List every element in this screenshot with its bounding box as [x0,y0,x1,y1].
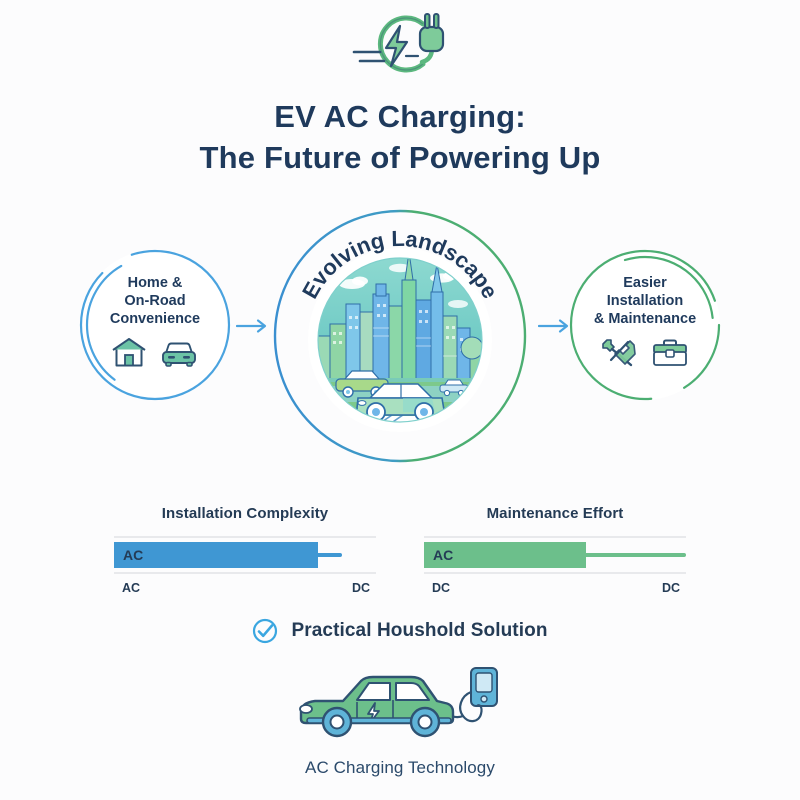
metric-maintenance-effort: Maintenance Effort AC DC DC [416,505,694,595]
chart-bar-0[interactable]: AC [114,542,318,568]
metric-title-1: Maintenance Effort [416,505,694,522]
metric-installation-complexity: Installation Complexity AC AC DC [106,505,384,595]
right-label-line-2: Installation [594,292,696,310]
flow-node-right-icons [601,336,689,368]
flow-node-easier-installation[interactable]: Easier Installation & Maintenance [570,250,720,400]
metric-chart-0: AC [106,536,384,574]
left-label-line-3: Convenience [110,310,200,328]
chart-axis-1: DC DC [416,574,694,595]
evolving-landscape-graphic: Evolving Landscape [272,208,528,464]
footer-section: AC Charging Technology [0,662,800,778]
arrow-right-icon-1 [236,318,270,334]
right-label-line-1: Easier [594,274,696,292]
header-logo [0,4,800,84]
ev-plug-bolt-icon [346,4,454,84]
wrench-screwdriver-icon [601,336,639,368]
metrics-section: Installation Complexity AC AC DC Mainten… [0,505,800,595]
callout-text: Practical Houshold Solution [291,620,547,642]
right-label-line-3: & Maintenance [594,310,696,328]
chart-bar-label-1: AC [424,547,453,563]
flow-node-left-icons [111,336,199,368]
title-line-2: The Future of Powering Up [0,137,800,178]
axis-tick-right-1: DC [662,581,680,595]
left-label-line-1: Home & [110,274,200,292]
chart-bar-label-0: AC [114,547,143,563]
axis-tick-left-1: DC [432,581,450,595]
infographic-canvas: EV AC Charging: The Future of Powering U… [0,0,800,800]
flow-node-evolving-landscape[interactable]: Evolving Landscape [272,208,528,464]
metric-title-0: Installation Complexity [106,505,384,522]
ev-car-charging-illustration [285,662,515,752]
car-front-icon [159,340,199,368]
chart-bar-1[interactable]: AC [424,542,586,568]
metric-chart-1: AC [416,536,694,574]
axis-tick-left-0: AC [122,581,140,595]
callout-banner: Practical Houshold Solution [0,618,800,644]
flow-diagram: Home & On-Road Convenience [0,200,800,450]
chart-rule-top-1 [424,536,686,538]
chart-axis-0: AC DC [106,574,384,595]
chart-rule-top-0 [114,536,376,538]
title-line-1: EV AC Charging: [0,96,800,137]
house-icon [111,336,147,368]
chart-rule-bottom-1 [424,572,686,574]
flow-node-home-convenience[interactable]: Home & On-Road Convenience [80,250,230,400]
flow-node-left-label: Home & On-Road Convenience [110,274,200,328]
check-circle-icon [252,618,278,644]
page-title: EV AC Charging: The Future of Powering U… [0,96,800,178]
flow-node-right-label: Easier Installation & Maintenance [594,274,696,328]
left-label-line-2: On-Road [110,292,200,310]
axis-tick-right-0: DC [352,581,370,595]
footer-caption: AC Charging Technology [305,758,495,778]
toolbox-icon [651,338,689,368]
arrow-right-icon-2 [538,318,572,334]
chart-rule-bottom-0 [114,572,376,574]
